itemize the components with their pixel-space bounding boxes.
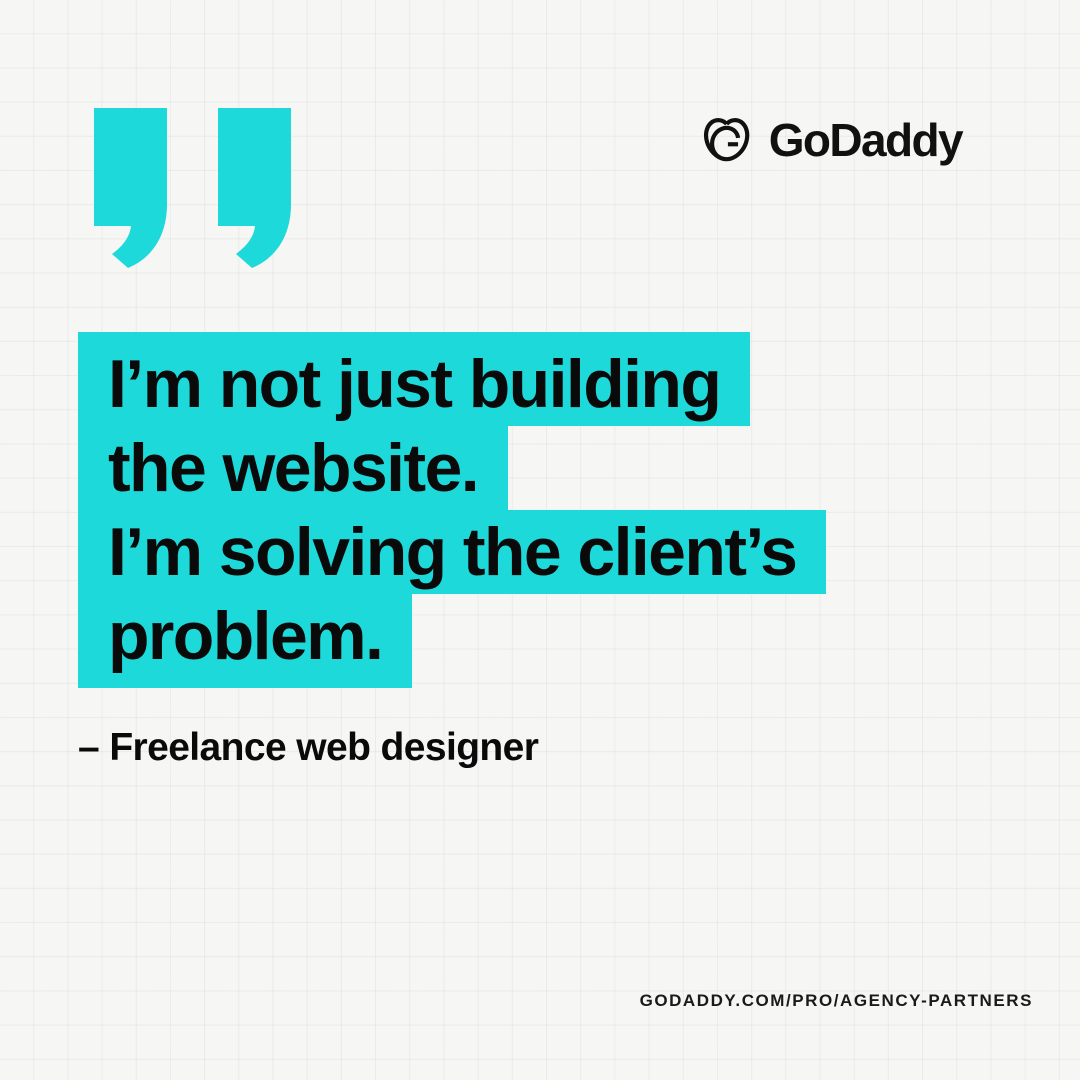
godaddy-logo-lockup: GoDaddy [698,112,962,170]
godaddy-wordmark: GoDaddy [769,117,962,163]
quote-line: I’m not just building [78,332,750,426]
quote-line: I’m solving the client’s [78,510,826,594]
quote-line: problem. [78,594,412,688]
quote-line: the website. [78,426,508,510]
quote-attribution: – Freelance web designer [78,722,538,774]
footer-url: GODADDY.COM/PRO/AGENCY-PARTNERS [640,991,1033,1011]
godaddy-heart-g-icon [698,112,756,170]
closing-quotation-mark-icon [94,108,318,268]
quote-text-block: I’m not just building the website. I’m s… [78,332,1018,688]
social-card: GoDaddy I’m not just building the websit… [0,0,1080,1080]
